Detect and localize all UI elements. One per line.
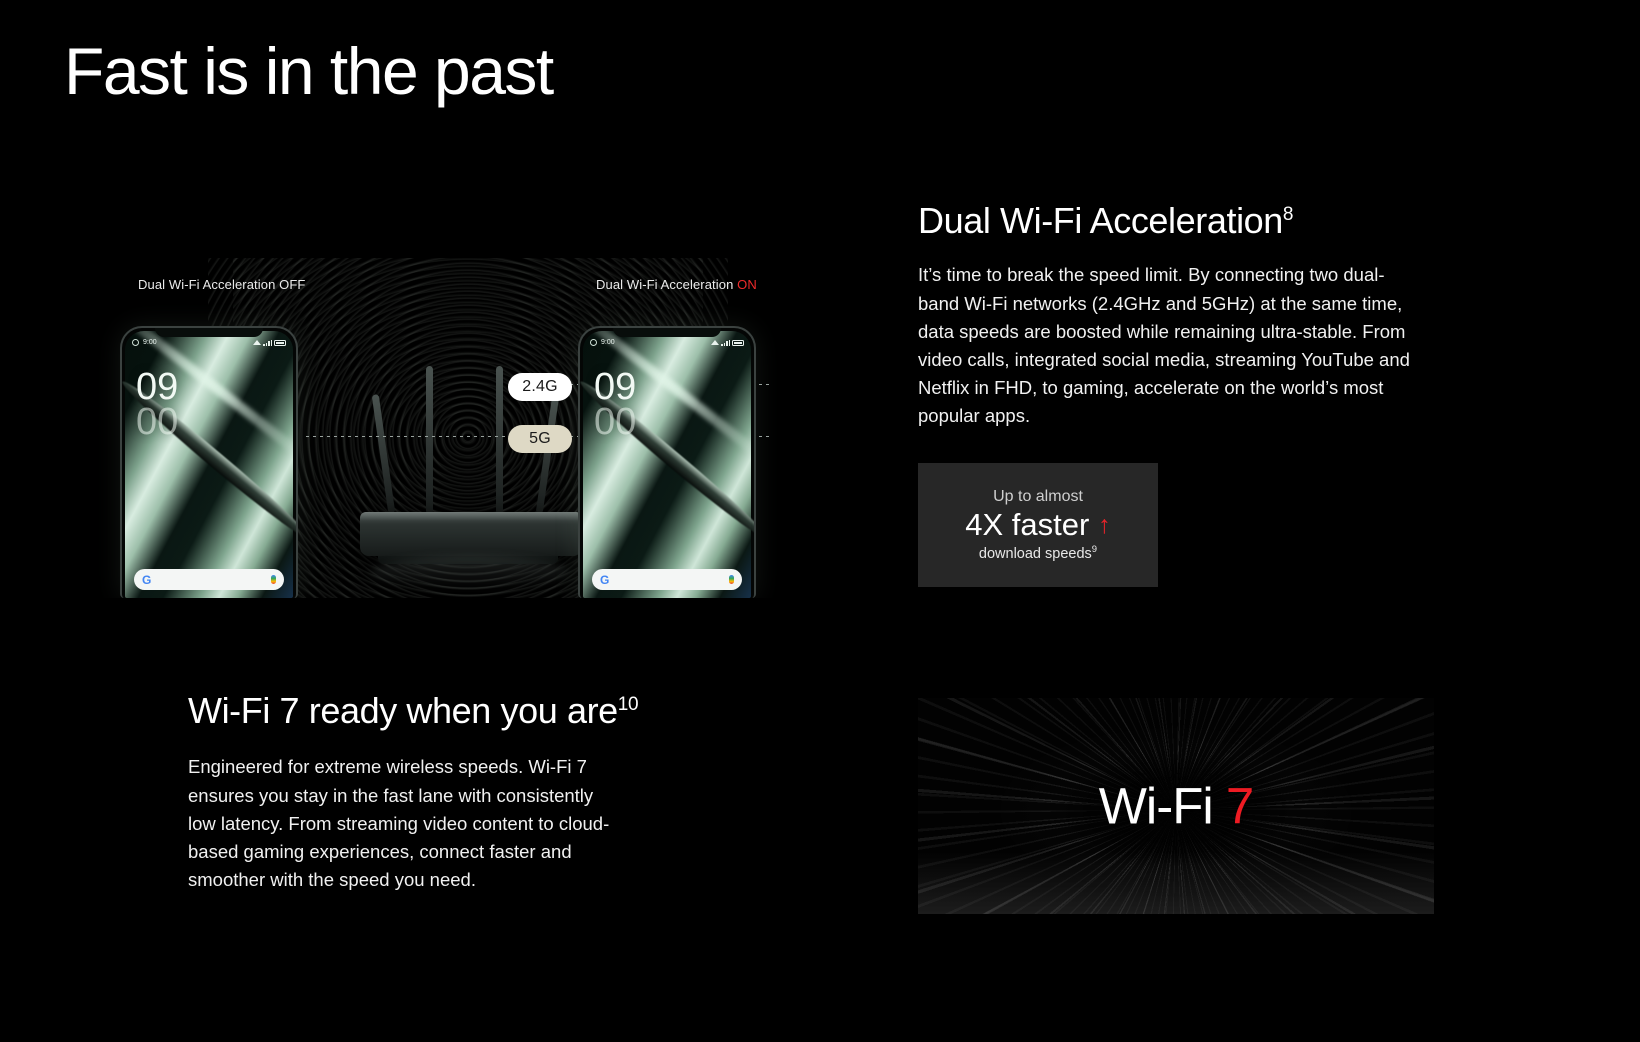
label-acceleration-on-prefix: Dual Wi-Fi Acceleration bbox=[596, 277, 737, 292]
label-acceleration-off: Dual Wi-Fi Acceleration OFF bbox=[138, 277, 305, 292]
stat-card-sub-footnote: 9 bbox=[1092, 544, 1097, 555]
power-button bbox=[296, 438, 298, 464]
wifi7-heading-footnote: 10 bbox=[618, 694, 638, 715]
lockscreen-clock-left: 09 00 bbox=[136, 370, 178, 440]
wifi7-body: Engineered for extreme wireless speeds. … bbox=[188, 753, 620, 894]
phone-mockup-left: 9:00 09 00 G bbox=[120, 326, 298, 598]
router-antenna bbox=[536, 394, 560, 514]
wifi7-heading-text: Wi-Fi 7 ready when you are bbox=[188, 690, 618, 731]
status-time-left: 9:00 bbox=[143, 339, 157, 346]
signal-bars-icon bbox=[263, 340, 272, 346]
clock-hours-right: 09 bbox=[594, 370, 636, 405]
router-antenna bbox=[426, 366, 433, 514]
marketing-page: Fast is in the past Dual Wi-Fi Accelerat… bbox=[0, 0, 1640, 1042]
stat-card-top-label: Up to almost bbox=[993, 488, 1083, 506]
microphone-icon[interactable] bbox=[271, 575, 276, 584]
page-title: Fast is in the past bbox=[64, 38, 553, 104]
band-badge-24g: 2.4G bbox=[508, 373, 572, 401]
label-acceleration-on: Dual Wi-Fi Acceleration ON bbox=[596, 277, 757, 292]
wifi7-image-label: Wi-Fi 7 bbox=[918, 777, 1434, 836]
up-arrow-icon: ↑ bbox=[1098, 513, 1111, 538]
band-badge-5g: 5G bbox=[508, 425, 572, 453]
status-right-group bbox=[253, 340, 286, 346]
battery-icon bbox=[274, 340, 286, 346]
status-left-group: 9:00 bbox=[590, 339, 615, 346]
battery-icon bbox=[732, 340, 744, 346]
wifi7-heading: Wi-Fi 7 ready when you are10 bbox=[188, 690, 658, 731]
phone-mockup-right: 9:00 09 00 G bbox=[578, 326, 756, 598]
phone-status-bar-right: 9:00 bbox=[580, 339, 754, 346]
wifi-icon bbox=[711, 340, 719, 345]
google-search-bar-right[interactable]: G bbox=[592, 569, 742, 590]
google-search-bar-left[interactable]: G bbox=[134, 569, 284, 590]
router-reflection bbox=[370, 556, 570, 590]
camera-dot-icon bbox=[132, 339, 139, 346]
stat-card-download-speed: Up to almost 4X faster ↑ download speeds… bbox=[918, 463, 1158, 587]
router-antenna bbox=[496, 366, 503, 514]
clock-minutes-left: 00 bbox=[136, 405, 178, 440]
google-logo-icon: G bbox=[600, 574, 609, 586]
clock-hours-left: 09 bbox=[136, 370, 178, 405]
camera-dot-icon bbox=[590, 339, 597, 346]
status-right-group bbox=[711, 340, 744, 346]
phone-status-bar-left: 9:00 bbox=[122, 339, 296, 346]
stat-card-value-row: 4X faster ↑ bbox=[965, 508, 1111, 542]
dual-wifi-body: It’s time to break the speed limit. By c… bbox=[918, 261, 1410, 430]
dual-wifi-heading-text: Dual Wi-Fi Acceleration bbox=[918, 200, 1283, 241]
label-acceleration-on-state: ON bbox=[737, 277, 757, 292]
tunnel-floor-glow bbox=[918, 852, 1434, 914]
dual-wifi-heading-footnote: 8 bbox=[1283, 204, 1293, 225]
wifi7-image-label-highlight: 7 bbox=[1226, 778, 1253, 835]
stat-card-sub-label: download speeds9 bbox=[979, 544, 1097, 562]
dual-wifi-comparison-image: Dual Wi-Fi Acceleration OFF Dual Wi-Fi A… bbox=[68, 258, 868, 598]
section-dual-wifi-acceleration: Dual Wi-Fi Acceleration8 It’s time to br… bbox=[918, 200, 1418, 430]
wifi-icon bbox=[253, 340, 261, 345]
router-body bbox=[360, 512, 582, 556]
section-wifi7-ready: Wi-Fi 7 ready when you are10 Engineered … bbox=[188, 690, 658, 894]
wifi7-speed-tunnel-image: Wi-Fi 7 bbox=[918, 698, 1434, 914]
lockscreen-clock-right: 09 00 bbox=[594, 370, 636, 440]
status-time-right: 9:00 bbox=[601, 339, 615, 346]
notch-decoration bbox=[155, 328, 263, 337]
clock-minutes-right: 00 bbox=[594, 405, 636, 440]
connection-line-5g-left bbox=[306, 436, 511, 437]
signal-bars-icon bbox=[721, 340, 730, 346]
notch-decoration bbox=[613, 328, 721, 337]
dual-wifi-heading: Dual Wi-Fi Acceleration8 bbox=[918, 200, 1418, 241]
router-antenna bbox=[372, 394, 396, 514]
wifi7-image-label-prefix: Wi-Fi bbox=[1099, 778, 1226, 835]
google-logo-icon: G bbox=[142, 574, 151, 586]
status-left-group: 9:00 bbox=[132, 339, 157, 346]
microphone-icon[interactable] bbox=[729, 575, 734, 584]
stat-card-value: 4X faster bbox=[965, 508, 1089, 542]
stat-card-sub-text: download speeds bbox=[979, 546, 1092, 562]
power-button bbox=[754, 438, 756, 464]
